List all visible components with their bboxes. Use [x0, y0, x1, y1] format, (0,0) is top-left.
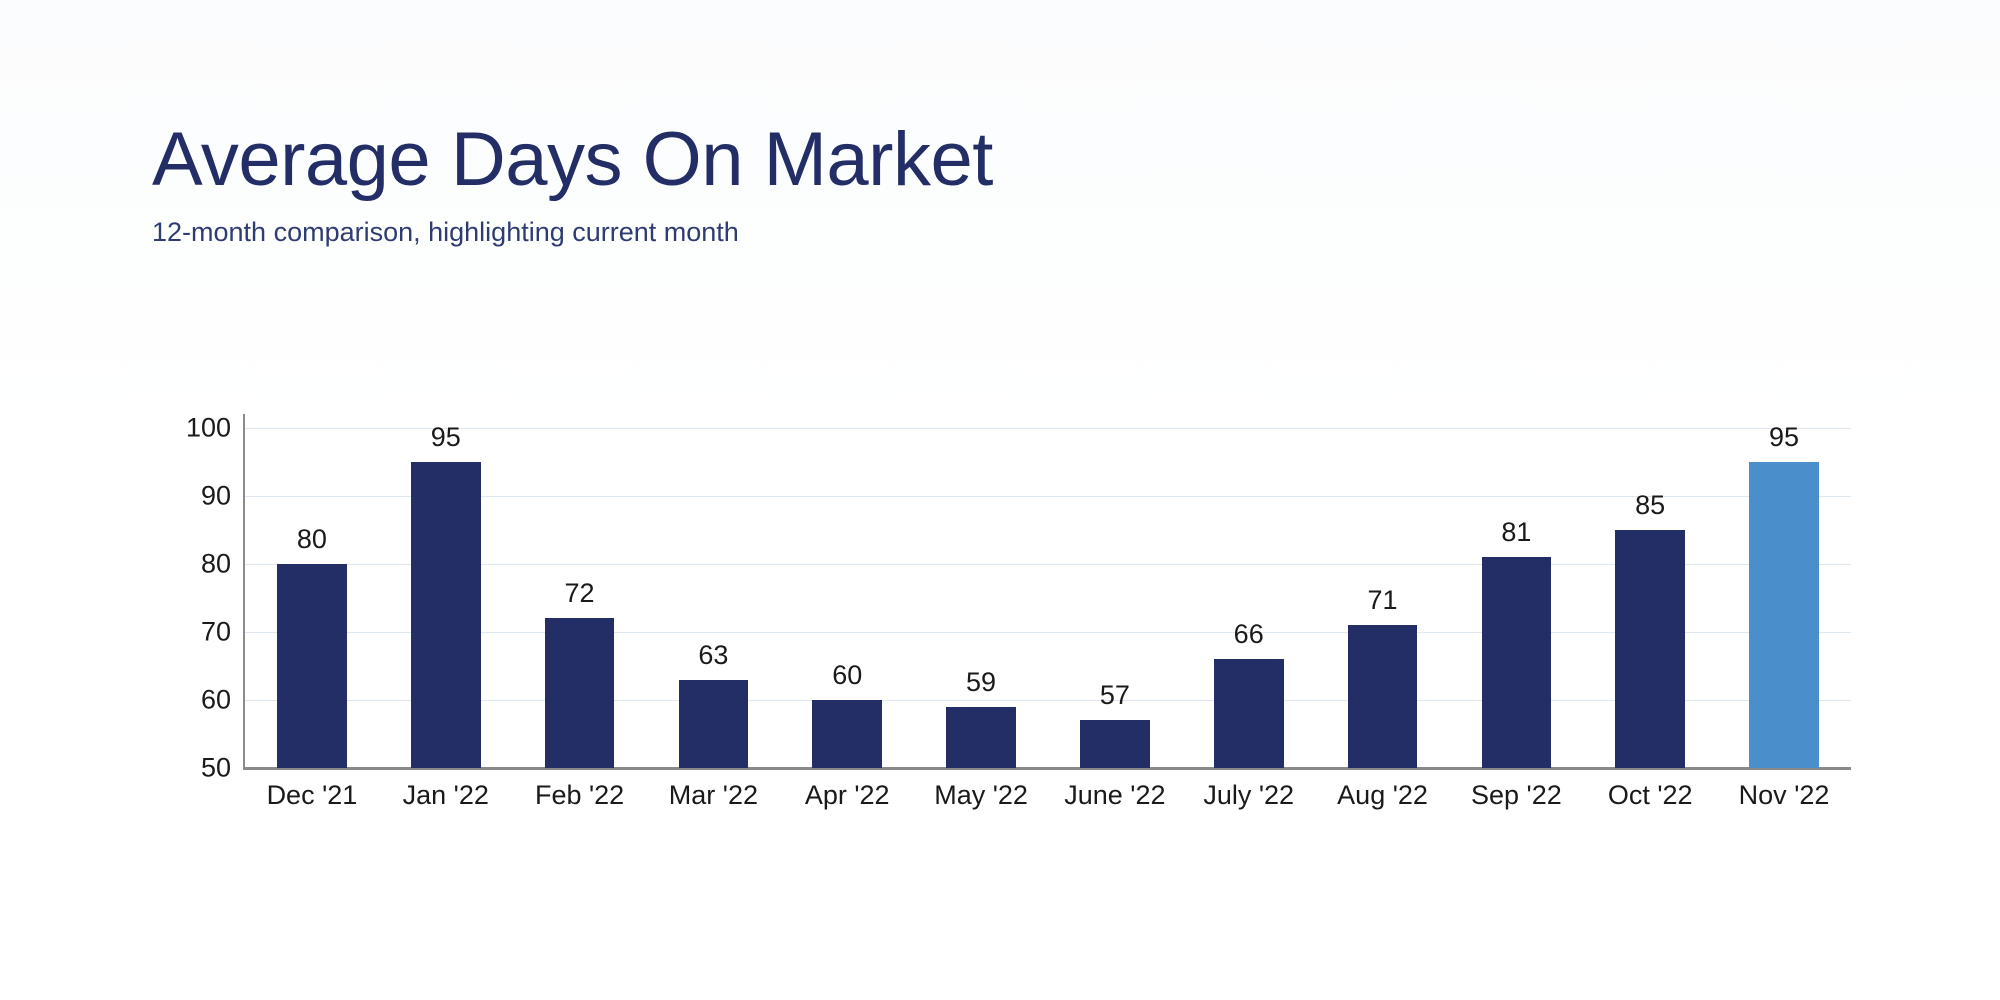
y-axis-tick-label: 90 [201, 481, 231, 512]
bar-slot: 95 [379, 428, 513, 768]
bar-slot: 66 [1182, 428, 1316, 768]
x-axis-tick-label: Mar '22 [646, 780, 780, 811]
x-axis-tick-label: Sep '22 [1449, 780, 1583, 811]
bar-slot: 57 [1048, 428, 1182, 768]
y-axis-tick-label: 100 [186, 413, 231, 444]
y-axis-tick-label: 80 [201, 549, 231, 580]
bar-value-label: 71 [1368, 585, 1398, 616]
bar[interactable]: 81 [1482, 557, 1552, 768]
x-axis-tick-label: Jan '22 [379, 780, 513, 811]
bar-slot: 63 [646, 428, 780, 768]
bar-value-label: 81 [1501, 517, 1531, 548]
bar[interactable]: 63 [679, 680, 749, 768]
y-axis-tick-labels: 5060708090100 [155, 428, 241, 768]
y-axis-tick-label: 50 [201, 753, 231, 784]
page-title: Average Days On Market [152, 118, 1552, 202]
bar-value-label: 85 [1635, 490, 1665, 521]
bar-value-label: 95 [1769, 422, 1799, 453]
x-axis-tick-label: May '22 [914, 780, 1048, 811]
page-subtitle: 12-month comparison, highlighting curren… [152, 216, 1552, 248]
x-axis-tick-label: Aug '22 [1316, 780, 1450, 811]
bar[interactable]: 95 [411, 462, 481, 768]
bar-slot: 71 [1316, 428, 1450, 768]
bar-value-label: 66 [1234, 619, 1264, 650]
y-axis-tick-label: 70 [201, 617, 231, 648]
bar-slot: 95 [1717, 428, 1851, 768]
x-axis-tick-label: Nov '22 [1717, 780, 1851, 811]
bar-value-label: 57 [1100, 680, 1130, 711]
bar-value-label: 60 [832, 660, 862, 691]
x-axis-tick-label: Oct '22 [1583, 780, 1717, 811]
bar[interactable]: 71 [1348, 625, 1418, 768]
x-axis-tick-labels: Dec '21Jan '22Feb '22Mar '22Apr '22May '… [245, 780, 1851, 811]
x-axis-tick-label: July '22 [1182, 780, 1316, 811]
bar[interactable]: 59 [946, 707, 1016, 768]
bar[interactable]: 60 [812, 700, 882, 768]
x-axis-tick-label: June '22 [1048, 780, 1182, 811]
bar-slot: 85 [1583, 428, 1717, 768]
bar-value-label: 95 [431, 422, 461, 453]
bar-value-label: 59 [966, 667, 996, 698]
bar-slot: 72 [513, 428, 647, 768]
bar-slot: 81 [1449, 428, 1583, 768]
bar-slot: 60 [780, 428, 914, 768]
bar[interactable]: 80 [277, 564, 347, 768]
bar-slot: 59 [914, 428, 1048, 768]
bar-highlighted[interactable]: 95 [1749, 462, 1819, 768]
bar[interactable]: 72 [545, 618, 615, 768]
plot-area: 809572636059576671818595 [245, 428, 1851, 768]
chart-header: Average Days On Market 12-month comparis… [152, 118, 1552, 248]
bar-series: 809572636059576671818595 [245, 428, 1851, 768]
bar-value-label: 80 [297, 524, 327, 555]
bar[interactable]: 85 [1615, 530, 1685, 768]
bar-chart: 5060708090100 809572636059576671818595 D… [155, 428, 1855, 828]
bar-slot: 80 [245, 428, 379, 768]
x-axis-tick-label: Apr '22 [780, 780, 914, 811]
x-axis-tick-label: Feb '22 [513, 780, 647, 811]
x-axis-tick-label: Dec '21 [245, 780, 379, 811]
bar-value-label: 63 [698, 640, 728, 671]
bar[interactable]: 66 [1214, 659, 1284, 768]
bar-value-label: 72 [565, 578, 595, 609]
bar[interactable]: 57 [1080, 720, 1150, 768]
y-axis-tick-label: 60 [201, 685, 231, 716]
